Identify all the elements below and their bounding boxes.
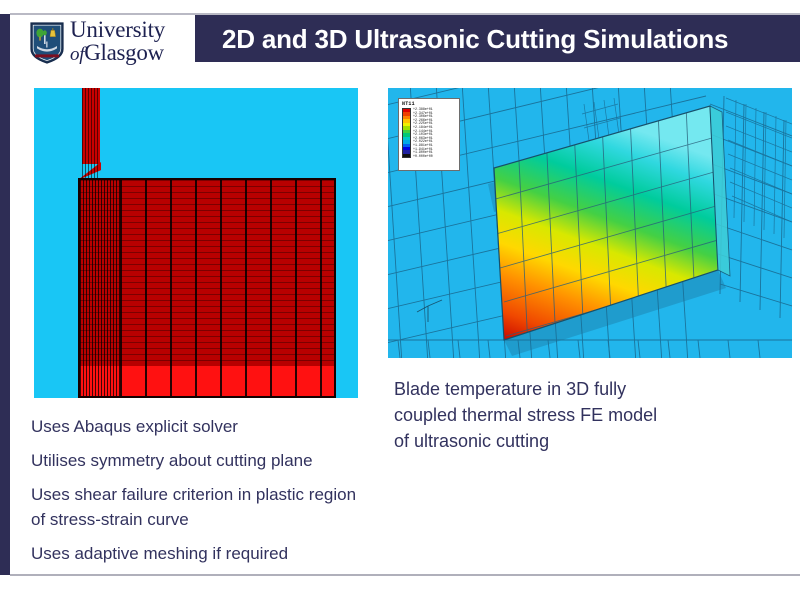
wordmark-of: of [70,44,84,65]
blade-2d-mesh-lines [82,88,100,180]
contour-legend-body: +2.388e+01+2.347e+01+2.306e+01+2.266e+01… [402,108,457,158]
figure-2d-bullet-item: Utilises symmetry about cutting plane [31,448,371,473]
wordmark-line-university: University [70,18,194,41]
workpiece-2d-lower-band-refined [80,366,122,398]
university-wordmark: University ofGlasgow [70,18,194,66]
figure-3d-caption-line: of ultrasonic cutting [394,428,724,454]
university-crest-icon [30,22,64,64]
contour-legend-colorbar [402,108,411,158]
slide-bottom-divider [10,574,800,576]
slide-title: 2D and 3D Ultrasonic Cutting Simulations [222,18,797,60]
figure-2d-bullet-item: Uses Abaqus explicit solver [31,414,371,439]
figure-3d-caption-line: Blade temperature in 3D fully [394,376,724,402]
contour-legend-labels: +2.388e+01+2.347e+01+2.306e+01+2.266e+01… [413,108,433,158]
figure-2d-bullet-item: Uses shear failure criterion in plastic … [31,482,371,532]
workpiece-2d-bottom-edge [80,396,334,398]
presentation-slide: University ofGlasgow 2D and 3D Ultrasoni… [0,0,800,600]
contour-legend-label: +0.000e+00 [413,155,433,159]
figure-3d-caption-line: coupled thermal stress FE model [394,402,724,428]
wordmark-glasgow: Glasgow [84,40,164,65]
figure-2d-bullet-list: Uses Abaqus explicit solverUtilises symm… [31,414,371,566]
contour-legend: NT11 +2.388e+01+2.347e+01+2.306e+01+2.26… [398,98,460,171]
figure-3d-caption: Blade temperature in 3D fullycoupled the… [394,376,724,454]
simulation-2d-figure [34,88,358,398]
workpiece-2d-lower-band-columns [120,366,334,398]
wordmark-line-glasgow: ofGlasgow [70,41,194,64]
workpiece-2d-mesh [78,178,336,398]
figure-2d-bullet-item: Uses adaptive meshing if required [31,541,371,566]
contour-legend-swatch-13 [403,154,410,157]
slide-left-accent-strip [0,14,10,575]
simulation-3d-figure: NT11 +2.388e+01+2.347e+01+2.306e+01+2.26… [388,88,792,358]
